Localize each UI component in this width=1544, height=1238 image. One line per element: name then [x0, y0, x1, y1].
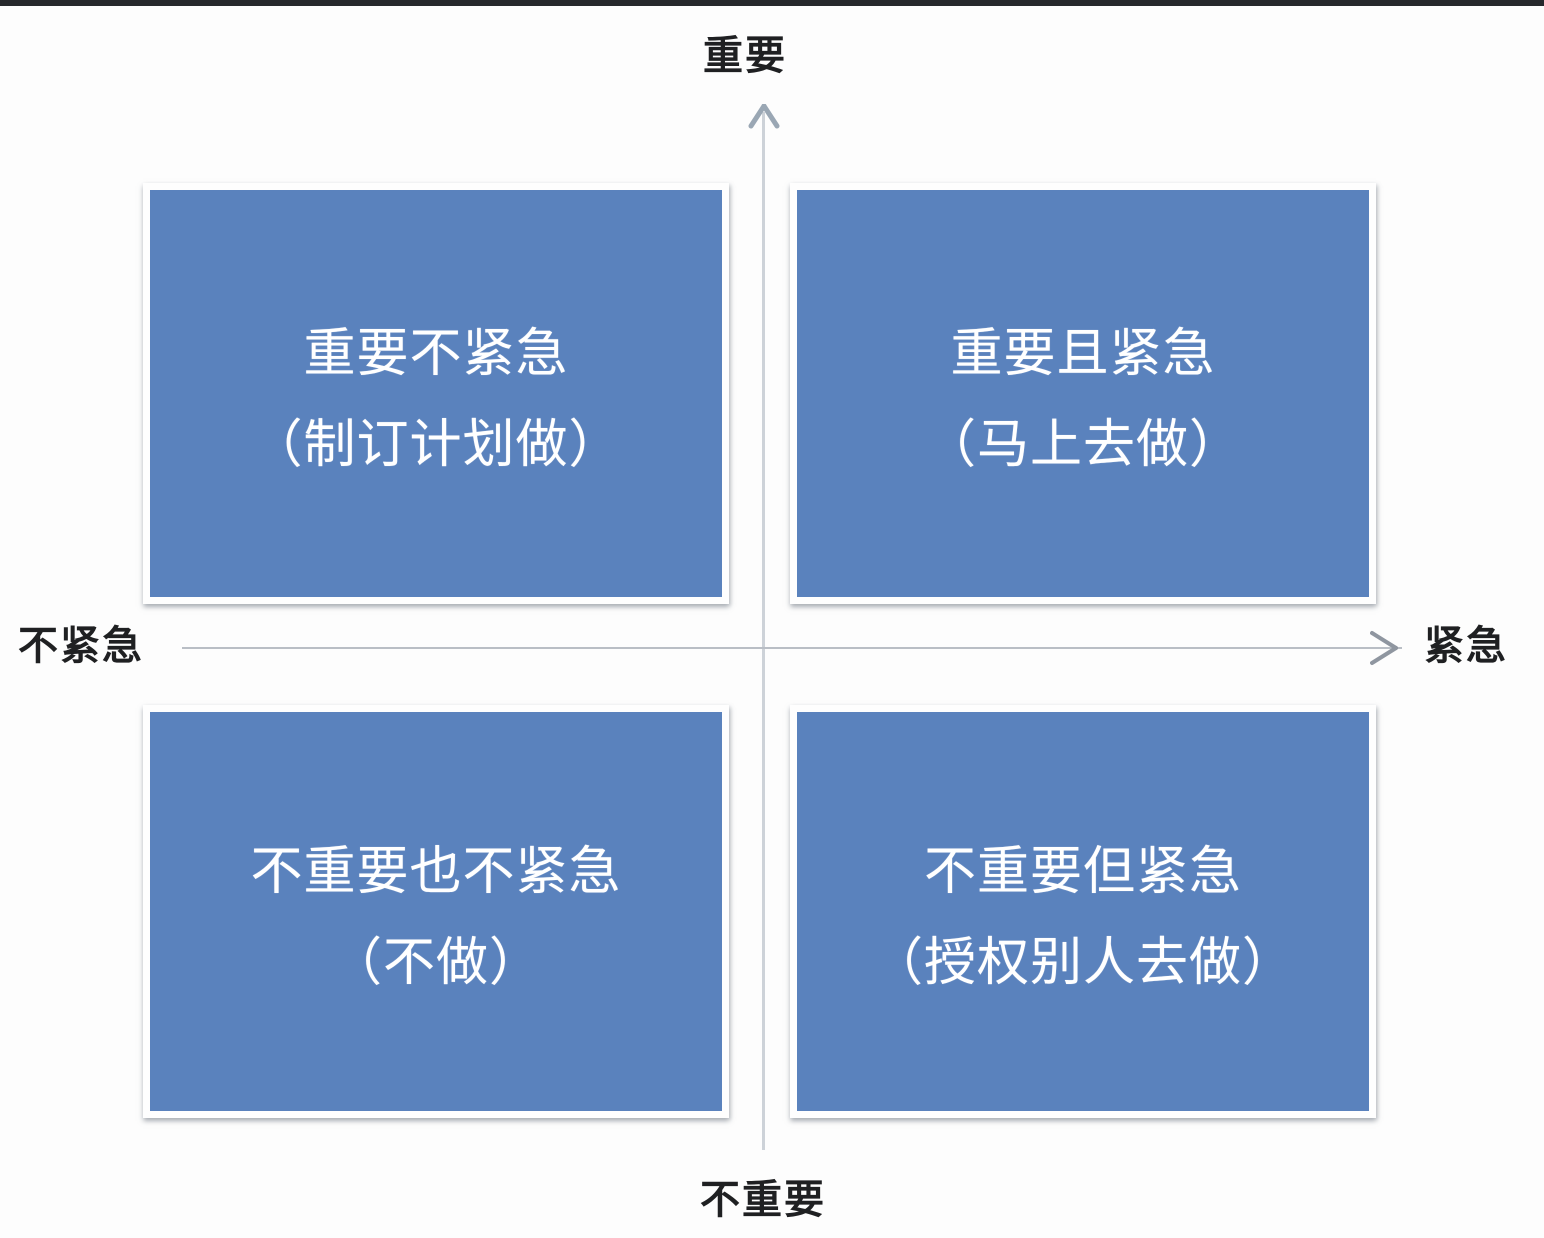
quadrant-content: 不重要但紧急 （授权别人去做）: [871, 845, 1295, 990]
quadrant-title: 不重要也不紧急: [250, 845, 621, 900]
vertical-axis-line: [762, 112, 765, 1150]
quadrant-content: 重要且紧急 （马上去做）: [924, 327, 1242, 472]
quadrant-action: （授权别人去做）: [871, 936, 1295, 991]
quadrant-not-important-but-urgent[interactable]: 不重要但紧急 （授权别人去做）: [790, 705, 1376, 1118]
axis-label-urgent: 紧急: [1424, 626, 1508, 666]
axis-label-not-urgent: 不紧急: [18, 626, 144, 666]
horizontal-axis-line: [182, 647, 1402, 649]
quadrant-action: （制订计划做）: [250, 418, 621, 473]
quadrant-action: （不做）: [330, 936, 542, 991]
arrow-up-icon: [742, 104, 786, 144]
quadrant-title: 不重要但紧急: [924, 845, 1242, 900]
arrow-right-icon: [1370, 627, 1414, 669]
quadrant-title: 重要且紧急: [950, 327, 1215, 382]
eisenhower-matrix-diagram: 重要 不重要 不紧急 紧急 重要不紧急 （制订计划做） 重要且紧急 （马上去做）…: [0, 0, 1544, 1238]
top-edge-strip: [0, 0, 1544, 6]
quadrant-important-and-urgent[interactable]: 重要且紧急 （马上去做）: [790, 183, 1376, 604]
quadrant-content: 重要不紧急 （制订计划做）: [250, 327, 621, 472]
axis-label-not-important: 不重要: [700, 1180, 826, 1220]
quadrant-content: 不重要也不紧急 （不做）: [250, 845, 621, 990]
quadrant-not-important-not-urgent[interactable]: 不重要也不紧急 （不做）: [143, 705, 729, 1118]
quadrant-action: （马上去做）: [924, 418, 1242, 473]
quadrant-title: 重要不紧急: [303, 327, 568, 382]
axis-label-important: 重要: [703, 36, 787, 76]
quadrant-important-not-urgent[interactable]: 重要不紧急 （制订计划做）: [143, 183, 729, 604]
